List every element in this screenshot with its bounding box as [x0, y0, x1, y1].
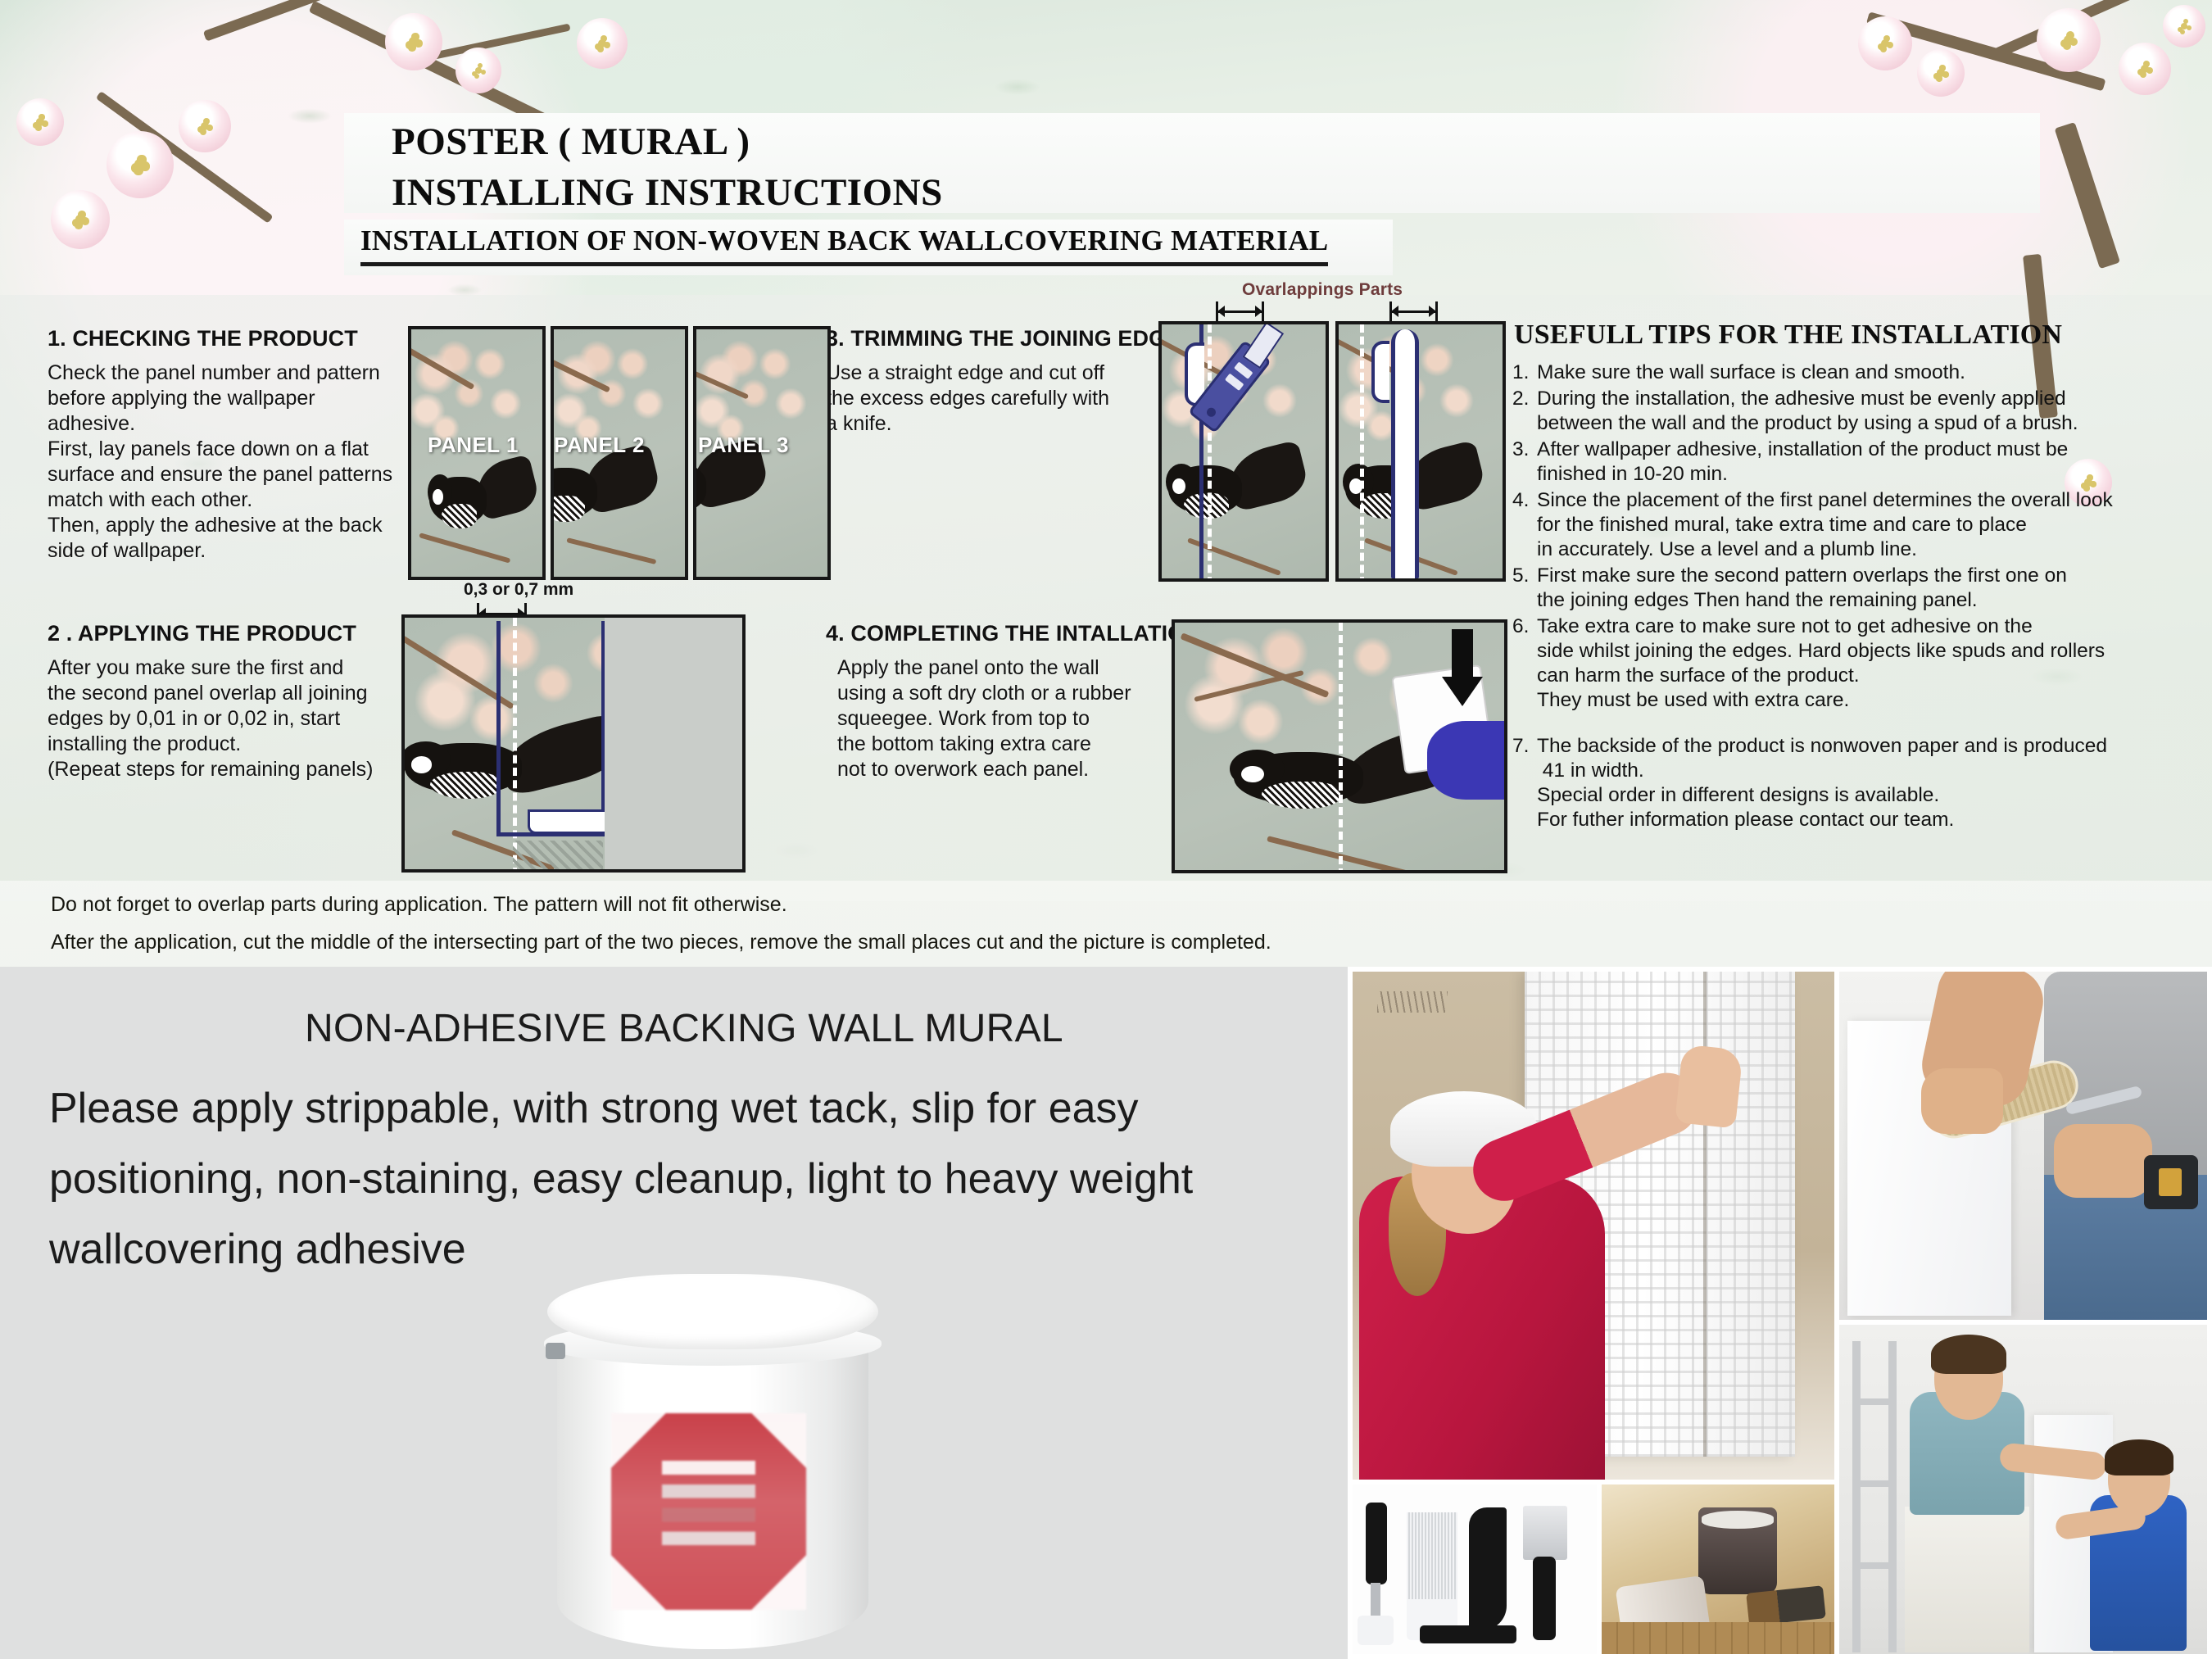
- adhesive-info-section: NON-ADHESIVE BACKING WALL MURAL Please a…: [0, 967, 2212, 1659]
- tip-number: 1.: [1512, 360, 1537, 385]
- tip-item: 3.After wallpaper adhesive, installation…: [1512, 437, 2119, 487]
- panel-3-label: PANEL 3: [698, 433, 789, 458]
- step-1-heading: 1. CHECKING THE PRODUCT: [48, 326, 358, 351]
- tip-item: 4.Since the placement of the first panel…: [1512, 488, 2119, 562]
- tips-heading: USEFULL TIPS FOR THE INSTALLATION: [1514, 320, 2062, 351]
- tip-number: 5.: [1512, 564, 1537, 613]
- tip-line: For futher information please contact ou…: [1537, 808, 2119, 832]
- tip-line: 41 in width.: [1537, 759, 2119, 783]
- panel-1-label: PANEL 1: [428, 433, 519, 458]
- tip-number: 6.: [1512, 614, 1537, 713]
- tip-line: After wallpaper adhesive, installation o…: [1537, 437, 2119, 462]
- panel-2-label: PANEL 2: [554, 433, 645, 458]
- tip-number: 7.: [1512, 734, 1537, 832]
- tip-item: 7.The backside of the product is nonwove…: [1512, 734, 2119, 832]
- tip-line: They must be used with extra care.: [1537, 688, 2119, 713]
- tip-line: Special order in different designs is av…: [1537, 783, 2119, 808]
- tip-line: Since the placement of the first panel d…: [1537, 488, 2119, 513]
- straight-edge-icon: [1391, 329, 1419, 578]
- adhesive-section-title: NON-ADHESIVE BACKING WALL MURAL: [305, 1006, 1063, 1051]
- tip-item: 2.During the installation, the adhesive …: [1512, 387, 2119, 436]
- tip-line: During the installation, the adhesive mu…: [1537, 387, 2119, 411]
- step-2-heading: 2 . APPLYING THE PRODUCT: [48, 621, 356, 646]
- photo-wallpaper-tool-kit: [1353, 1484, 1597, 1654]
- tip-item: 1.Make sure the wall surface is clean an…: [1512, 360, 2119, 385]
- gloved-hand-icon: [1427, 721, 1507, 800]
- step-2-body: After you make sure the first and the se…: [48, 655, 400, 782]
- installation-instruction-sheet: POSTER ( MURAL ) INSTALLING INSTRUCTIONS…: [0, 0, 2212, 967]
- title-line-2: INSTALLING INSTRUCTIONS: [392, 167, 1539, 218]
- adhesive-section-body: Please apply strippable, with strong wet…: [49, 1073, 1311, 1285]
- trimming-frame-left: [1158, 321, 1329, 582]
- adhesive-bucket-image: [541, 1274, 885, 1659]
- tip-item: 5.First make sure the second pattern ove…: [1512, 564, 2119, 613]
- tip-line: The backside of the product is nonwoven …: [1537, 734, 2119, 759]
- tips-list: 1.Make sure the wall surface is clean an…: [1512, 360, 2119, 834]
- step-2-diagram: [401, 614, 746, 873]
- tip-line: side whilst joining the edges. Hard obje…: [1537, 639, 2119, 664]
- step-3-heading: 3. TRIMMING THE JOINING EDGES: [826, 326, 1195, 351]
- overlapping-parts-label: Ovarlappings Parts: [1242, 280, 1403, 300]
- tip-number: 4.: [1512, 488, 1537, 562]
- note-line-2: After the application, cut the middle of…: [51, 931, 1271, 954]
- step-4-heading: 4. COMPLETING THE INTALLATION: [826, 621, 1201, 646]
- step-1-body: Check the panel number and pattern befor…: [48, 360, 400, 564]
- photo-pasting-with-roller: [1839, 972, 2207, 1320]
- step-4-diagram: [1172, 619, 1507, 873]
- tip-line: finished in 10-20 min.: [1537, 462, 2119, 487]
- tip-line: Take extra care to make sure not to get …: [1537, 614, 2119, 639]
- tip-line: between the wall and the product by usin…: [1537, 411, 2119, 436]
- tip-line: can harm the surface of the product.: [1537, 664, 2119, 688]
- title-line-1: POSTER ( MURAL ): [392, 116, 1539, 167]
- tip-line: Make sure the wall surface is clean and …: [1537, 360, 2119, 385]
- note-line-1: Do not forget to overlap parts during ap…: [51, 893, 787, 917]
- tip-number: 3.: [1512, 437, 1537, 487]
- tip-line: the joining edges Then hand the remainin…: [1537, 588, 2119, 613]
- page-title: POSTER ( MURAL ) INSTALLING INSTRUCTIONS: [392, 116, 1539, 218]
- photo-paste-supplies: [1602, 1484, 1834, 1654]
- tip-item: 6.Take extra care to make sure not to ge…: [1512, 614, 2119, 713]
- step-3-body: Use a straight edge and cut off the exce…: [826, 360, 1137, 437]
- overlap-measure-label: 0,3 or 0,7 mm: [464, 580, 573, 600]
- tip-number: 2.: [1512, 387, 1537, 436]
- bucket-label: [611, 1413, 806, 1610]
- photo-man-and-boy-hanging-wallpaper: [1839, 1325, 2207, 1654]
- photo-collage: [1348, 967, 2212, 1659]
- tip-line: for the finished mural, take extra time …: [1537, 513, 2119, 537]
- step-4-body: Apply the panel onto the wall using a so…: [837, 655, 1149, 782]
- tip-line: in accurately. Use a level and a plumb l…: [1537, 537, 2119, 562]
- photo-woman-applying-wallpaper: [1353, 972, 1834, 1480]
- trimming-frame-right: [1335, 321, 1506, 582]
- page-subtitle: INSTALLATION OF NON-WOVEN BACK WALLCOVER…: [360, 224, 1328, 266]
- tip-line: First make sure the second pattern overl…: [1537, 564, 2119, 588]
